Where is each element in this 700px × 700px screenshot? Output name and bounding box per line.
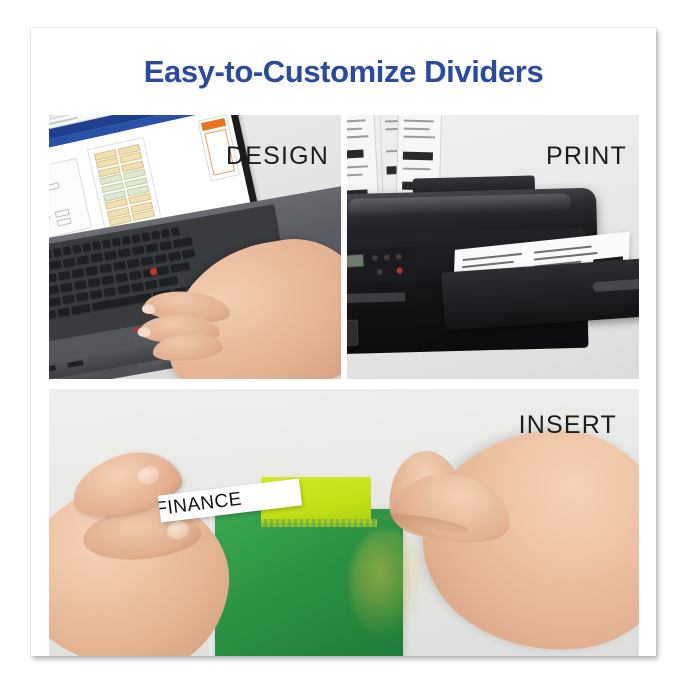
screenshot-root: Easy-to-Customize Dividers — [0, 0, 700, 700]
printer-media-slot — [347, 292, 405, 303]
panel-design: DESIGN — [49, 115, 341, 379]
printer-button[interactable] — [396, 253, 402, 259]
product-feature-card: Easy-to-Customize Dividers — [31, 28, 656, 656]
page-title: Easy-to-Customize Dividers — [31, 54, 656, 90]
printer-button[interactable] — [384, 254, 390, 260]
divider-stitching — [261, 519, 377, 527]
label-cell-grid — [94, 144, 155, 226]
printer-stop-button[interactable] — [396, 267, 402, 273]
printer-lcd-display — [347, 254, 364, 269]
thumb-through-plastic-shadow — [349, 529, 425, 639]
printer-control-panel[interactable] — [347, 247, 417, 286]
panel-label-design: DESIGN — [226, 142, 329, 171]
panel-print: PRINT — [347, 115, 639, 379]
fingernail — [138, 327, 151, 337]
panel-label-insert: INSERT — [519, 411, 617, 440]
output-tray-handle[interactable] — [592, 279, 639, 293]
printer-button[interactable] — [372, 255, 378, 261]
printer-button[interactable] — [376, 269, 382, 275]
panel-label-print: PRINT — [546, 142, 627, 171]
panel-insert: FINANCE INSERT — [49, 389, 639, 656]
printer-cartridge-door[interactable] — [347, 320, 358, 347]
lid-highlight — [348, 193, 570, 217]
